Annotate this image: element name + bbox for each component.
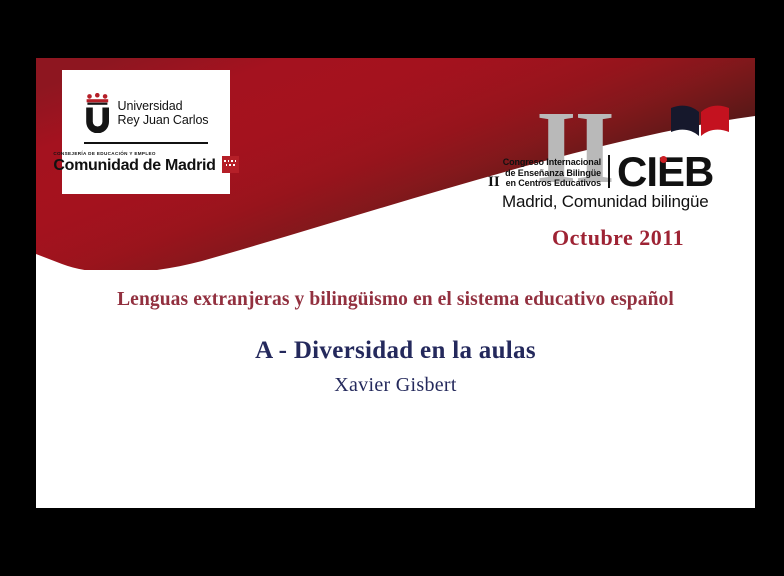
page-title: Lenguas extranjeras y bilingüismo en el …: [36, 288, 755, 312]
congress-logo: II II Congreso Internacional de Enseñanz…: [488, 102, 750, 212]
consejeria-label: CONSEJERÍA DE EDUCACIÓN Y EMPLEO: [53, 151, 156, 156]
author-name: Xavier Gisbert: [36, 373, 755, 397]
urjc-name-line2: Rey Juan Carlos: [118, 113, 209, 128]
congress-line-1: Congreso Internacional: [503, 157, 601, 168]
congress-date: Octubre 2011: [552, 225, 684, 251]
presentation-slide: Universidad Rey Juan Carlos CONSEJERÍA D…: [36, 58, 755, 508]
congress-divider-bar: [608, 155, 610, 188]
section-subtitle: A - Diversidad en la aulas: [36, 336, 755, 366]
slide-content: Lenguas extranjeras y bilingüismo en el …: [36, 288, 755, 397]
screen-letterbox: Universidad Rey Juan Carlos CONSEJERÍA D…: [0, 0, 784, 576]
congress-line-2: de Enseñanza Bilingüe: [505, 168, 601, 179]
crown-u-icon: [84, 93, 111, 133]
congress-main-row: II Congreso Internacional de Enseñanza B…: [488, 154, 713, 189]
open-book-icon: [669, 104, 731, 138]
comunidad-madrid-label: Comunidad de Madrid: [53, 157, 215, 175]
cieb-red-dot-icon: [660, 156, 667, 163]
congress-line-3: en Centros Educativos: [506, 178, 601, 189]
congress-tagline: Madrid, Comunidad bilingüe: [502, 192, 708, 212]
urjc-name: Universidad Rey Juan Carlos: [118, 99, 209, 128]
urjc-logo: Universidad Rey Juan Carlos: [84, 93, 209, 133]
congress-title-lines: II Congreso Internacional de Enseñanza B…: [488, 157, 601, 189]
cieb-acronym-wrap: CIEB: [617, 154, 713, 189]
comunidad-madrid-logo: CONSEJERÍA DE EDUCACIÓN Y EMPLEO Comunid…: [53, 151, 238, 175]
institution-logo-card: Universidad Rey Juan Carlos CONSEJERÍA D…: [62, 70, 230, 194]
congress-roman-numeral: II: [488, 177, 500, 189]
urjc-name-line1: Universidad: [118, 99, 209, 114]
madrid-seven-stars-emblem: [222, 156, 239, 173]
logo-divider-rule: [84, 142, 208, 144]
